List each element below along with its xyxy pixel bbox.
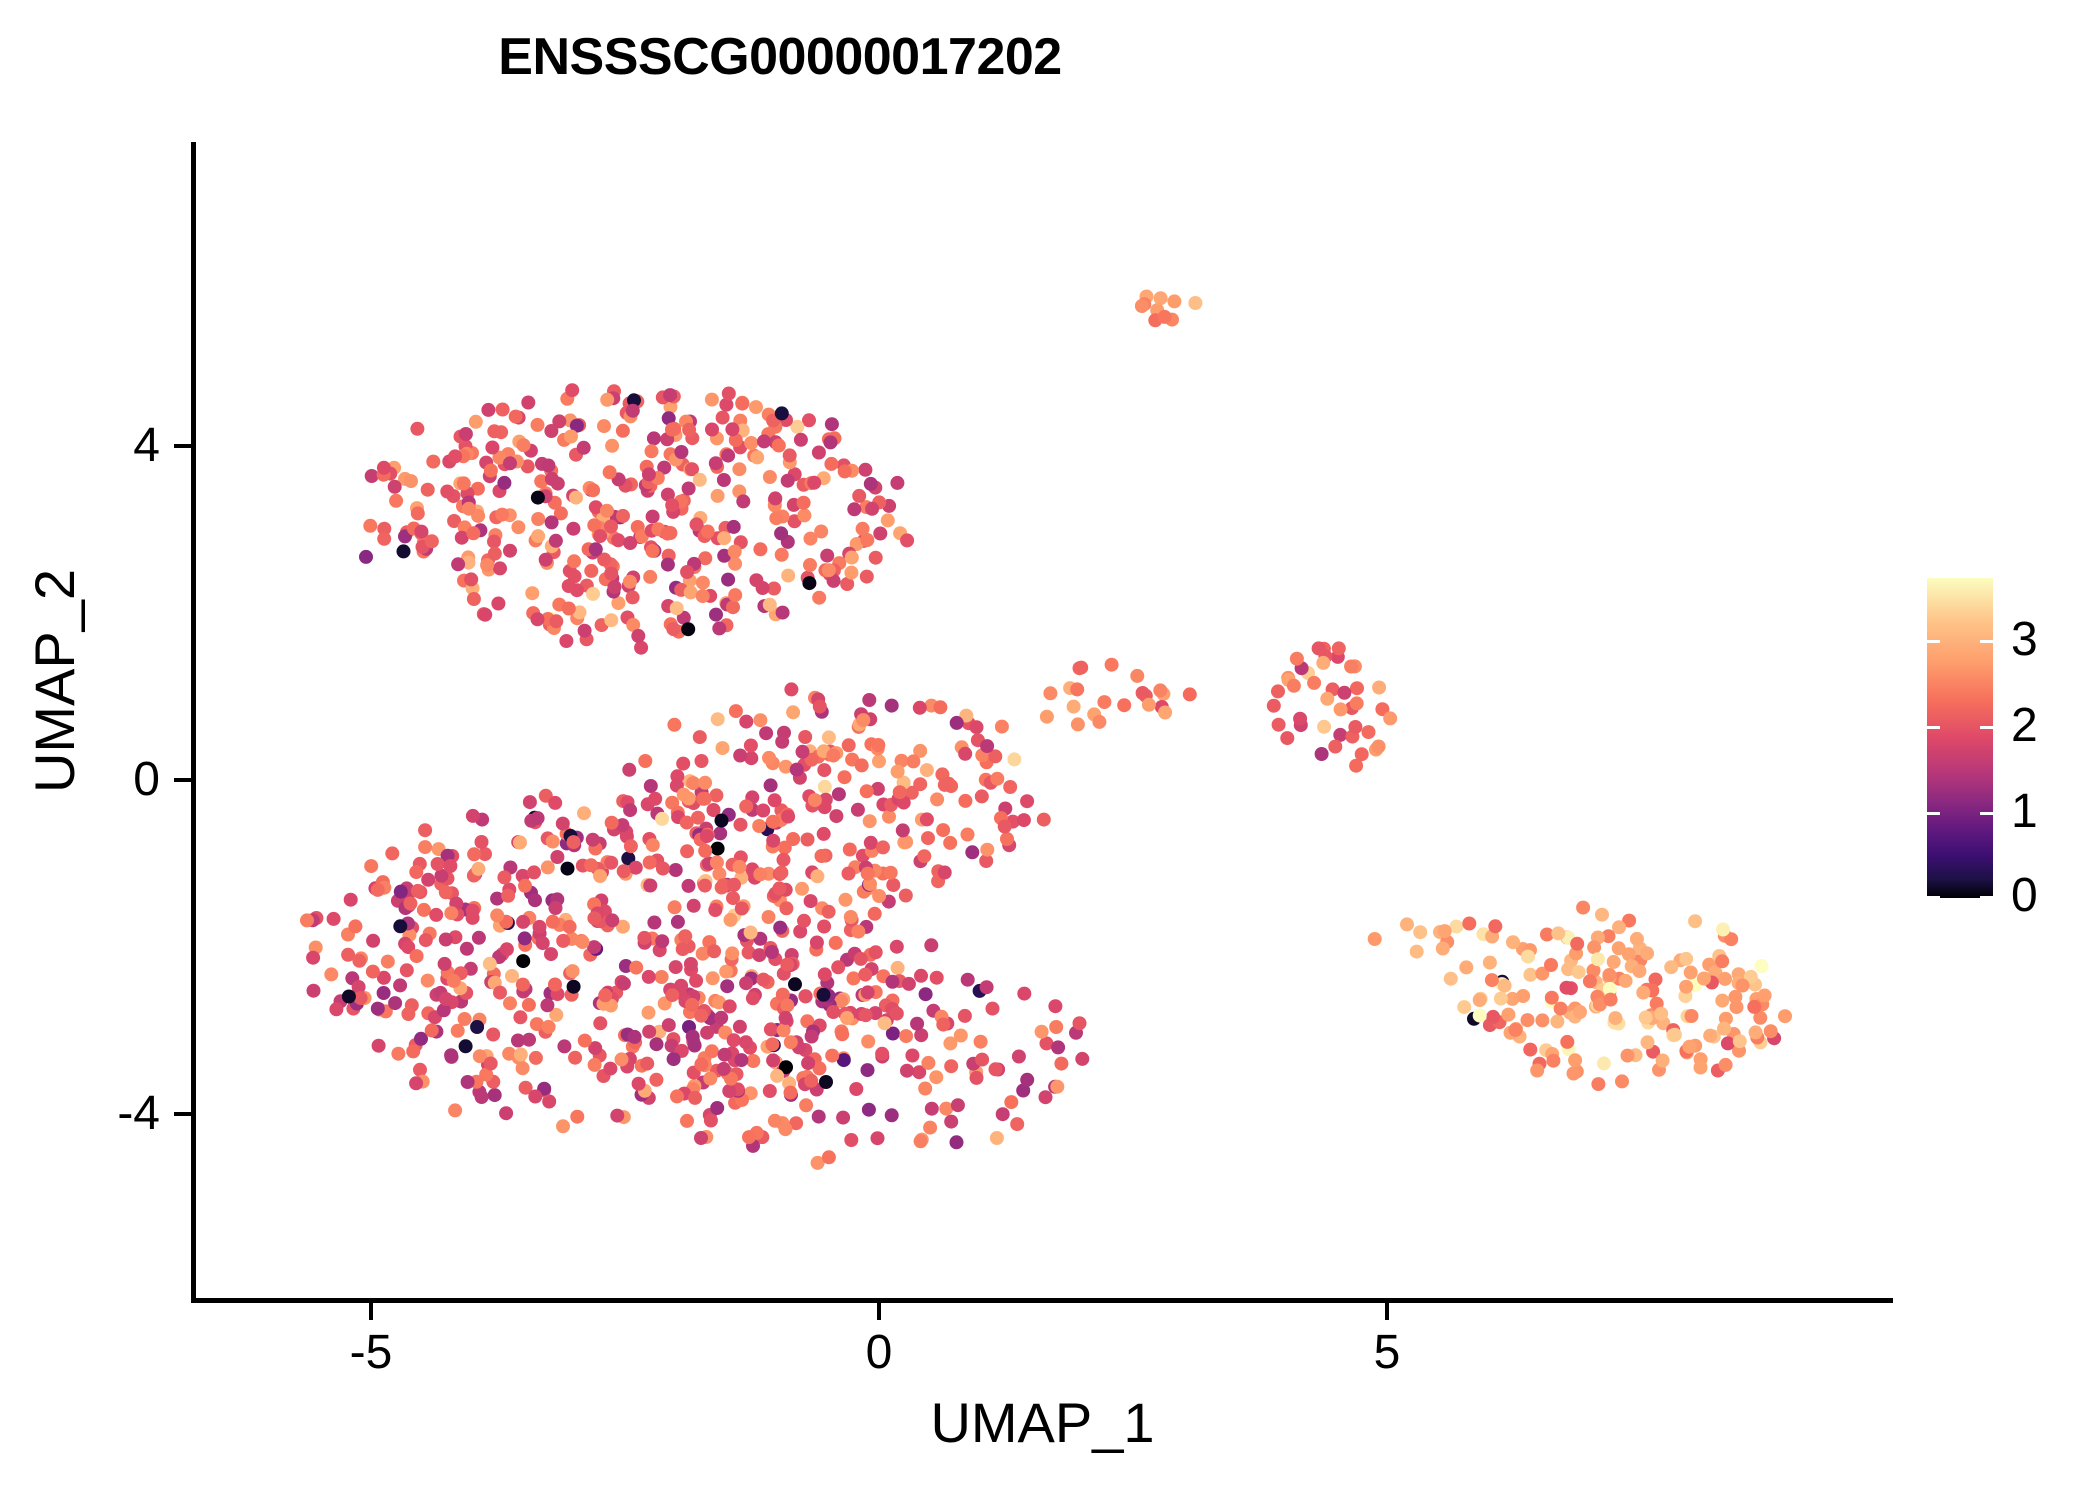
colorbar-label: 0 bbox=[2011, 868, 2038, 924]
colorbar-tick bbox=[1980, 640, 1993, 643]
colorbar-tick bbox=[1980, 896, 1993, 899]
y-tick-mark bbox=[174, 778, 191, 782]
scatter-points-layer bbox=[0, 0, 2100, 1500]
x-tick-mark bbox=[1385, 1303, 1389, 1320]
x-tick-label: -5 bbox=[291, 1325, 451, 1381]
colorbar-tick bbox=[1980, 726, 1993, 729]
page-title: ENSSSCG00000017202 bbox=[0, 26, 1560, 88]
colorbar-tick bbox=[1927, 896, 1940, 899]
y-tick-label: -4 bbox=[0, 1086, 160, 1142]
x-tick-mark bbox=[877, 1303, 881, 1320]
y-axis-label-wrapper: UMAP_2 bbox=[20, 331, 90, 1031]
colorbar-tick bbox=[1927, 726, 1940, 729]
y-tick-mark bbox=[174, 444, 191, 448]
x-tick-label: 0 bbox=[799, 1325, 959, 1381]
colorbar-label: 3 bbox=[2011, 612, 2038, 668]
y-axis-label: UMAP_2 bbox=[20, 331, 90, 1031]
umap-feature-plot: ENSSSCG00000017202 -5 0 5 4 0 -4 UMAP_1 … bbox=[0, 0, 2100, 1500]
x-tick-label: 5 bbox=[1307, 1325, 1467, 1381]
y-axis-line bbox=[191, 142, 196, 1303]
colorbar-tick bbox=[1927, 640, 1940, 643]
x-axis-line bbox=[191, 1298, 1893, 1303]
colorbar-label: 1 bbox=[2011, 784, 2038, 840]
y-tick-mark bbox=[174, 1112, 191, 1116]
colorbar-gradient bbox=[1927, 578, 1993, 898]
colorbar-tick bbox=[1980, 812, 1993, 815]
x-axis-label: UMAP_1 bbox=[195, 1390, 1890, 1456]
x-tick-mark bbox=[369, 1303, 373, 1320]
colorbar-label: 2 bbox=[2011, 698, 2038, 754]
colorbar-tick bbox=[1927, 812, 1940, 815]
